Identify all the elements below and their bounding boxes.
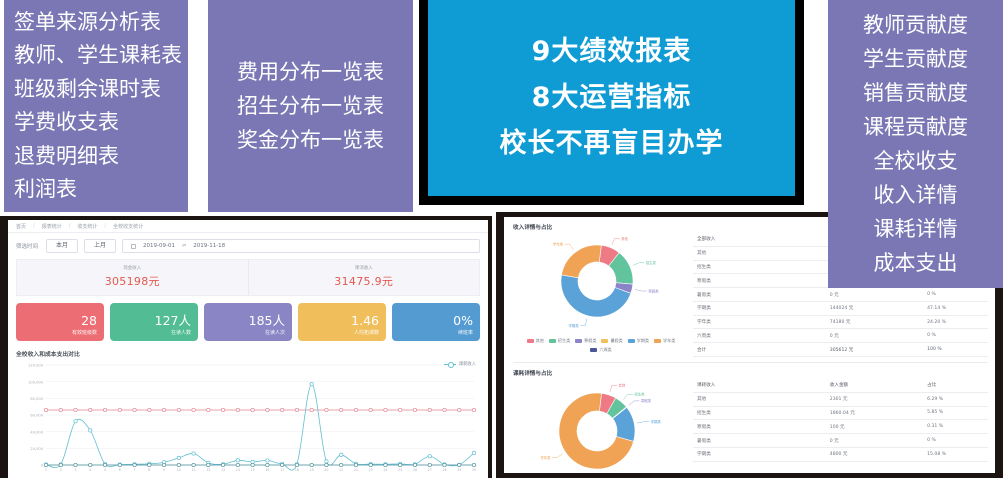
metric-item[interactable]: 收入详情 bbox=[874, 178, 958, 212]
svg-text:14: 14 bbox=[236, 468, 240, 472]
legend-color-swatch bbox=[601, 339, 608, 343]
svg-text:6: 6 bbox=[119, 468, 121, 472]
report-list-middle-panel: 费用分布一览表 招生分布一览表 奖金分布一览表 bbox=[208, 0, 413, 212]
stat-label: 在读人次 bbox=[204, 329, 285, 336]
legend-color-swatch bbox=[549, 339, 556, 343]
consume-table: 课耗收入 收入金额 占比 其他2301 元6.29 %招生类1860.04 元5… bbox=[693, 379, 988, 473]
cell-pct: 0.31 % bbox=[923, 420, 988, 434]
filter-label: 筛选时间 bbox=[16, 242, 38, 250]
donut-legend-item[interactable]: 暑假类 bbox=[601, 338, 622, 344]
cell-pct: 47.14 % bbox=[923, 301, 988, 315]
summary-label: 课消收入 bbox=[249, 265, 480, 271]
report-list-left-panel: 签单来源分析表 教师、学生课耗表 班级剩余课时表 学费收支表 退费明细表 利润表 bbox=[4, 0, 188, 212]
table-row: 暑假类0 元0 % bbox=[693, 288, 988, 302]
svg-text:16: 16 bbox=[265, 468, 269, 472]
donut-legend-item[interactable]: 其他 bbox=[527, 338, 544, 344]
stat-value: 28 bbox=[16, 314, 97, 327]
svg-text:12: 12 bbox=[206, 468, 210, 472]
cell-amount: 1860.04 元 bbox=[826, 406, 923, 420]
legend-label: 六周类 bbox=[599, 347, 611, 353]
breadcrumb-item-1[interactable]: 报表统计 bbox=[42, 223, 62, 230]
svg-text:18: 18 bbox=[295, 468, 299, 472]
income-donut-legend[interactable]: 其他招生类寒假类暑假类学期类学年类六周类 bbox=[513, 338, 689, 353]
report-item[interactable]: 退费明细表 bbox=[14, 140, 119, 174]
svg-text:11: 11 bbox=[192, 468, 196, 472]
cell-name: 合计 bbox=[693, 343, 826, 357]
stat-label: 续班率 bbox=[392, 329, 473, 336]
cell-name: 其他 bbox=[693, 392, 826, 406]
svg-text:5: 5 bbox=[104, 468, 106, 472]
date-end-value[interactable]: 2019-11-18 bbox=[193, 243, 225, 249]
donut-legend-item[interactable]: 学年类 bbox=[654, 338, 675, 344]
col-header-pct: 占比 bbox=[923, 379, 988, 392]
legend-label: 学年类 bbox=[663, 338, 675, 344]
stat-label: 人均拓课数 bbox=[298, 329, 379, 336]
col-header-name: 课耗收入 bbox=[693, 379, 826, 392]
date-to-icon: ⇌ bbox=[182, 243, 186, 249]
consume-donut-chart: 其他招生类寒假类学期类学年类 bbox=[513, 379, 689, 473]
screenshot-root: 首页 / 报表统计 / 收支统计 / 全校收支统计 筛选时间 本月 上月 201… bbox=[0, 0, 1003, 478]
breadcrumb-separator-icon: / bbox=[69, 223, 71, 229]
col-header-name: 全部收入 bbox=[693, 233, 826, 246]
svg-text:学期类: 学期类 bbox=[651, 419, 662, 424]
legend-label: 学期类 bbox=[637, 338, 649, 344]
svg-text:29: 29 bbox=[457, 468, 461, 472]
donut-legend-item[interactable]: 六周类 bbox=[590, 347, 611, 353]
summary-value: 31475.9元 bbox=[249, 273, 480, 289]
donut-legend-item[interactable]: 学期类 bbox=[628, 338, 649, 344]
cell-pct: 6.29 % bbox=[923, 392, 988, 406]
stat-card-enrollments[interactable]: 185人 在读人次 bbox=[204, 303, 292, 341]
cell-name: 寒假类 bbox=[693, 274, 826, 288]
cell-name: 招生类 bbox=[693, 260, 826, 274]
svg-text:100,000: 100,000 bbox=[28, 380, 44, 384]
svg-text:17: 17 bbox=[280, 468, 284, 472]
legend-color-swatch bbox=[575, 339, 582, 343]
svg-text:120,000: 120,000 bbox=[28, 364, 44, 368]
donut-legend-item[interactable]: 招生类 bbox=[549, 338, 570, 344]
svg-text:19: 19 bbox=[310, 468, 314, 472]
svg-text:2: 2 bbox=[60, 468, 62, 472]
filter-toolbar: 筛选时间 本月 上月 2019-09-01 ⇌ 2019-11-18 bbox=[8, 233, 488, 259]
svg-text:24: 24 bbox=[383, 468, 387, 472]
left-dashboard-screen: 首页 / 报表统计 / 收支统计 / 全校收支统计 筛选时间 本月 上月 201… bbox=[8, 220, 488, 478]
legend-label: 课耗收入 bbox=[459, 361, 476, 367]
stat-card-renewal-rate[interactable]: 0% 续班率 bbox=[392, 303, 480, 341]
legend-line-icon bbox=[444, 364, 456, 365]
svg-text:寒假类: 寒假类 bbox=[641, 398, 652, 403]
svg-text:3: 3 bbox=[75, 468, 77, 472]
calendar-icon bbox=[131, 244, 136, 249]
report-item[interactable]: 利润表 bbox=[14, 173, 77, 207]
cell-name: 学年类 bbox=[693, 315, 826, 329]
stat-card-avg-courses[interactable]: 1.46 人均拓课数 bbox=[298, 303, 386, 341]
svg-text:学年类: 学年类 bbox=[540, 455, 551, 460]
cell-name: 学期类 bbox=[693, 301, 826, 315]
svg-text:13: 13 bbox=[221, 468, 225, 472]
metric-item[interactable]: 全校收支 bbox=[874, 144, 958, 178]
income-donut-chart: 其他招生类寒假类学期类学年类 其他招生类寒假类暑假类学期类学年类六周类 bbox=[513, 233, 689, 357]
stat-value: 1.46 bbox=[298, 314, 379, 327]
stat-card-row: 28 有效班级数 127人 在读人数 185人 在读人次 1.46 人均拓课数 … bbox=[8, 296, 488, 347]
svg-text:20: 20 bbox=[324, 468, 328, 472]
breadcrumb-item-0[interactable]: 首页 bbox=[16, 223, 26, 230]
summary-label: 现金收入 bbox=[17, 265, 248, 271]
stat-value: 127人 bbox=[110, 314, 191, 327]
date-range-picker[interactable]: 2019-09-01 ⇌ 2019-11-18 bbox=[122, 239, 480, 253]
metric-item[interactable]: 课耗详情 bbox=[874, 212, 958, 246]
legend-color-swatch bbox=[590, 348, 597, 352]
chart-title: 全校收入和成本支出对比 bbox=[8, 347, 488, 358]
svg-text:28: 28 bbox=[442, 468, 446, 472]
svg-text:8: 8 bbox=[148, 468, 150, 472]
svg-text:40,000: 40,000 bbox=[30, 430, 43, 434]
cell-amount: 0 元 bbox=[826, 329, 923, 343]
svg-text:其他: 其他 bbox=[618, 383, 625, 388]
col-header-amount: 收入金额 bbox=[826, 379, 923, 392]
report-item[interactable]: 奖金分布一览表 bbox=[237, 123, 384, 157]
cell-name: 学期类 bbox=[693, 447, 826, 461]
breadcrumb-item-2[interactable]: 收支统计 bbox=[77, 223, 97, 230]
stat-value: 185人 bbox=[204, 314, 285, 327]
stat-card-students[interactable]: 127人 在读人数 bbox=[110, 303, 198, 341]
table-row: 暑假类0 元0 % bbox=[693, 434, 988, 448]
cell-name: 招生类 bbox=[693, 406, 826, 420]
consume-donut-canvas: 其他招生类寒假类学期类学年类 bbox=[513, 379, 689, 473]
cell-pct: 100 % bbox=[923, 343, 988, 357]
svg-text:21: 21 bbox=[339, 468, 343, 472]
headline-line: 校长不再盲目办学 bbox=[500, 121, 724, 167]
cell-name: 其他 bbox=[693, 246, 826, 260]
metric-item[interactable]: 教师贡献度 bbox=[863, 8, 968, 42]
report-item[interactable]: 签单来源分析表 bbox=[14, 6, 161, 40]
cell-name: 暑假类 bbox=[693, 434, 826, 448]
svg-text:7: 7 bbox=[134, 468, 136, 472]
legend-label: 招生类 bbox=[558, 338, 570, 344]
breadcrumb-separator-icon: / bbox=[33, 223, 35, 229]
svg-text:招生类: 招生类 bbox=[634, 392, 645, 397]
stat-card-classes[interactable]: 28 有效班级数 bbox=[16, 303, 104, 341]
table-header-row: 课耗收入 收入金额 占比 bbox=[693, 379, 988, 392]
svg-text:22: 22 bbox=[354, 468, 358, 472]
stat-label: 有效班级数 bbox=[16, 329, 97, 336]
svg-text:学年类: 学年类 bbox=[553, 241, 564, 246]
income-donut-canvas: 其他招生类寒假类学期类学年类 bbox=[513, 233, 689, 333]
breadcrumb-separator-icon: / bbox=[104, 223, 106, 229]
report-item[interactable]: 班级剩余课时表 bbox=[14, 73, 161, 107]
breadcrumb: 首页 / 报表统计 / 收支统计 / 全校收支统计 bbox=[8, 220, 488, 233]
headline-line: 8大运营指标 bbox=[532, 75, 692, 121]
cell-amount: 4800 元 bbox=[826, 447, 923, 461]
cell-pct: 15.08 % bbox=[923, 447, 988, 461]
cell-pct: 0 % bbox=[923, 434, 988, 448]
headline-line: 9大绩效报表 bbox=[532, 29, 692, 75]
legend-color-swatch bbox=[654, 339, 661, 343]
consume-section: 课耗详情与占比 其他招生类寒假类学期类学年类 课耗收入 收入金额 占比 bbox=[504, 363, 995, 473]
cell-amount: 0 元 bbox=[826, 434, 923, 448]
cell-pct: 24.20 % bbox=[923, 315, 988, 329]
headline-panel: 9大绩效报表 8大运营指标 校长不再盲目办学 bbox=[419, 0, 804, 205]
svg-text:23: 23 bbox=[369, 468, 373, 472]
table-row: 学期类4800 元15.08 % bbox=[693, 447, 988, 461]
metric-item[interactable]: 销售贡献度 bbox=[863, 76, 968, 110]
svg-text:15: 15 bbox=[251, 468, 255, 472]
legend-color-swatch bbox=[628, 339, 635, 343]
report-item[interactable]: 费用分布一览表 bbox=[237, 55, 384, 89]
svg-text:学期类: 学期类 bbox=[568, 323, 579, 328]
consume-section-title: 课耗详情与占比 bbox=[513, 369, 988, 377]
svg-text:寒假类: 寒假类 bbox=[648, 288, 659, 293]
donut-legend-item[interactable]: 寒假类 bbox=[575, 338, 596, 344]
last-month-button[interactable]: 上月 bbox=[84, 239, 116, 253]
cell-amount: 74180 元 bbox=[826, 315, 923, 329]
svg-text:9: 9 bbox=[163, 468, 165, 472]
svg-text:0: 0 bbox=[41, 464, 44, 468]
svg-text:27: 27 bbox=[428, 468, 432, 472]
this-month-button[interactable]: 本月 bbox=[46, 239, 78, 253]
table-row: 招生类1860.04 元5.85 % bbox=[693, 406, 988, 420]
table-row: 寒假类100 元0.31 % bbox=[693, 420, 988, 434]
income-cost-line-chart: 课耗收入 020,00040,00060,00080,000100,000120… bbox=[16, 361, 480, 478]
cell-pct: 5.85 % bbox=[923, 406, 988, 420]
breadcrumb-item-3: 全校收支统计 bbox=[113, 223, 143, 230]
table-row: 学年类74180 元24.20 % bbox=[693, 315, 988, 329]
svg-text:60,000: 60,000 bbox=[30, 414, 43, 418]
legend-label: 寒假类 bbox=[584, 338, 596, 344]
metric-list-right-panel: 教师贡献度 学生贡献度 销售贡献度 课程贡献度 全校收支 收入详情 课耗详情 成… bbox=[828, 0, 1003, 288]
legend-color-swatch bbox=[527, 339, 534, 343]
svg-text:1: 1 bbox=[45, 468, 47, 472]
cell-amount: 0 元 bbox=[826, 288, 923, 302]
cell-amount: 2301 元 bbox=[826, 392, 923, 406]
cell-amount: 100 元 bbox=[826, 420, 923, 434]
summary-row: 现金收入 305198元 课消收入 31475.9元 bbox=[16, 259, 480, 296]
svg-text:30: 30 bbox=[472, 468, 476, 472]
table-row: 其他2301 元6.29 % bbox=[693, 392, 988, 406]
metric-item[interactable]: 课程贡献度 bbox=[863, 110, 968, 144]
stat-value: 0% bbox=[392, 314, 473, 327]
svg-text:招生类: 招生类 bbox=[646, 260, 657, 265]
cell-name: 暑假类 bbox=[693, 288, 826, 302]
report-item[interactable]: 招生分布一览表 bbox=[237, 89, 384, 123]
svg-text:4: 4 bbox=[89, 468, 91, 472]
svg-text:其他: 其他 bbox=[621, 236, 628, 241]
report-item[interactable]: 学费收支表 bbox=[14, 106, 119, 140]
summary-consume-income: 课消收入 31475.9元 bbox=[249, 260, 480, 295]
svg-text:26: 26 bbox=[413, 468, 417, 472]
table-row: 六周类0 元0 % bbox=[693, 329, 988, 343]
line-chart-canvas: 020,00040,00060,00080,000100,000120,0001… bbox=[16, 361, 480, 477]
cell-name: 寒假类 bbox=[693, 420, 826, 434]
device-frame-left: 首页 / 报表统计 / 收支统计 / 全校收支统计 筛选时间 本月 上月 201… bbox=[0, 216, 492, 478]
svg-text:10: 10 bbox=[177, 468, 181, 472]
cell-pct: 0 % bbox=[923, 329, 988, 343]
svg-text:80,000: 80,000 bbox=[30, 397, 43, 401]
metric-item[interactable]: 成本支出 bbox=[874, 246, 958, 280]
chart-legend[interactable]: 课耗收入 bbox=[444, 361, 476, 367]
legend-label: 暑假类 bbox=[610, 338, 622, 344]
metric-item[interactable]: 学生贡献度 bbox=[863, 42, 968, 76]
date-start-value[interactable]: 2019-09-01 bbox=[143, 243, 175, 249]
cell-name: 六周类 bbox=[693, 329, 826, 343]
cell-amount: 305612 元 bbox=[826, 343, 923, 357]
svg-text:25: 25 bbox=[398, 468, 402, 472]
cell-pct: 0 % bbox=[923, 288, 988, 302]
summary-value: 305198元 bbox=[17, 273, 248, 289]
legend-label: 其他 bbox=[536, 338, 544, 344]
table-row: 合计305612 元100 % bbox=[693, 343, 988, 357]
svg-text:20,000: 20,000 bbox=[30, 447, 43, 451]
stat-label: 在读人数 bbox=[110, 329, 191, 336]
report-item[interactable]: 教师、学生课耗表 bbox=[14, 39, 182, 73]
cell-amount: 144024 元 bbox=[826, 301, 923, 315]
summary-cash-income: 现金收入 305198元 bbox=[17, 260, 249, 295]
table-row: 学期类144024 元47.14 % bbox=[693, 301, 988, 315]
